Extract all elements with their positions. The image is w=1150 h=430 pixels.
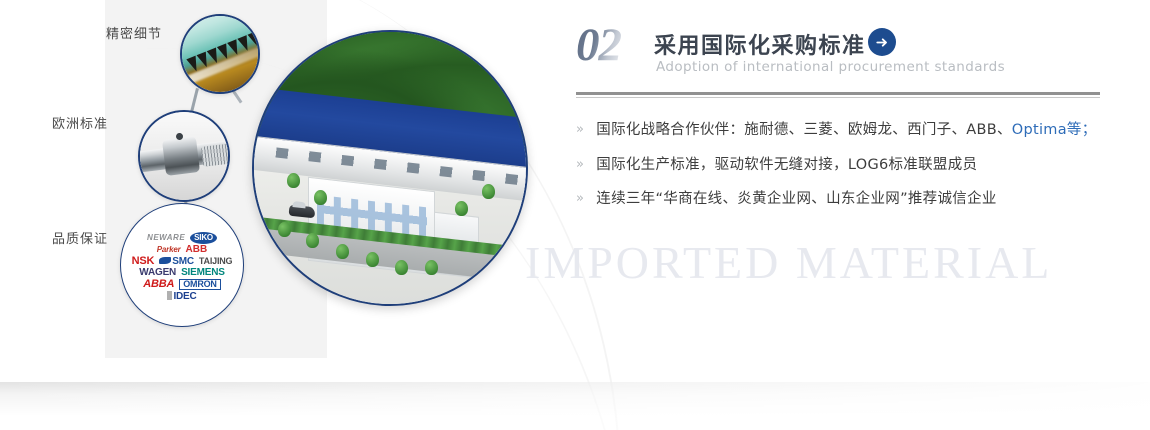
logo-smc-text: SMC (172, 256, 194, 267)
logo-idec: IDEC (167, 291, 196, 302)
tree-icon (306, 233, 319, 248)
watermark-text: IMPORTED MATERIAL (525, 236, 1052, 289)
screw-nut-icon (162, 136, 200, 176)
logo-row: NSK SMC TAIJING (132, 256, 233, 267)
bullet-text: 连续三年“华商在线、炎黄企业网、山东企业网”推荐诚信企业 (596, 190, 996, 210)
logo-nsk: NSK (132, 256, 155, 267)
bullet-marker-icon: » (576, 190, 584, 208)
bottom-shadow-band (0, 382, 1150, 430)
logo-row: ABBA OMRON (143, 279, 220, 290)
screw-thread-icon (201, 143, 230, 167)
logo-parker: Parker (157, 246, 181, 254)
logo-neware: NEWARE (147, 234, 185, 242)
logo-idec-text: IDEC (173, 291, 196, 302)
section-number: 02 (576, 22, 621, 69)
logo-abb: ABB (186, 245, 208, 255)
logo-row: Parker ABB (157, 245, 207, 255)
logo-row: NEWARE SIKO (147, 232, 217, 244)
header-divider (576, 92, 1100, 98)
logo-abba: ABBA (143, 279, 174, 290)
logo-siemens: SIEMENS (181, 268, 225, 278)
section-title-cn: 采用国际化采购标准 (654, 28, 866, 60)
divider-thick-line (576, 92, 1100, 95)
divider-thin-line (576, 97, 1100, 98)
bullet-marker-icon: » (576, 121, 584, 139)
logo-smc: SMC (159, 257, 194, 267)
ball-screw-bubble (138, 110, 230, 202)
factory-photo-bubble (252, 30, 528, 306)
label-quality-assurance: 品质保证 (52, 228, 108, 247)
list-item: » 国际化战略合作伙伴：施耐德、三菱、欧姆龙、西门子、ABB、Optima等； (576, 121, 1106, 141)
tree-icon (366, 252, 379, 267)
bullet-text-lead: 国际化战略合作伙伴：施耐德、三菱、欧姆龙、西门子、ABB、 (596, 122, 1012, 138)
arrow-right-icon[interactable] (868, 28, 896, 56)
brand-logos-bubble: NEWARE SIKO Parker ABB NSK SMC TAIJING W… (120, 203, 244, 327)
logo-omron: OMRON (179, 279, 221, 290)
logo-row: WAGEN SIEMENS (139, 268, 224, 278)
bullet-text-highlight: Optima等； (1012, 122, 1097, 138)
label-european-standard: 欧洲标准 (52, 113, 108, 132)
feature-bullet-list: » 国际化战略合作伙伴：施耐德、三菱、欧姆龙、西门子、ABB、Optima等； … (576, 121, 1106, 210)
section-header: 02 采用国际化采购标准 Adoption of international p… (576, 24, 1106, 90)
logo-taijing: TAIJING (199, 257, 232, 266)
bullet-text: 国际化生产标准，驱动软件无缝对接，LOG6标准联盟成员 (596, 156, 977, 176)
logo-siko: SIKO (190, 232, 217, 244)
gear-detail-bubble (180, 14, 260, 94)
tree-icon (336, 244, 349, 259)
imported-material-section: 精密细节 欧洲标准 品质保证 NEWARE SIKO (0, 0, 1150, 430)
tree-icon (455, 201, 468, 216)
label-precision-detail: 精密细节 (106, 23, 162, 42)
brand-logo-collage: NEWARE SIKO Parker ABB NSK SMC TAIJING W… (121, 204, 243, 326)
list-item: » 连续三年“华商在线、炎黄企业网、山东企业网”推荐诚信企业 (576, 190, 1106, 210)
bullet-marker-icon: » (576, 156, 584, 174)
section-content: 02 采用国际化采购标准 Adoption of international p… (576, 24, 1106, 226)
section-title-en: Adoption of international procurement st… (656, 59, 1005, 75)
logo-row: IDEC (167, 291, 196, 302)
bullet-text: 国际化战略合作伙伴：施耐德、三菱、欧姆龙、西门子、ABB、Optima等； (596, 121, 1096, 141)
tree-icon (314, 190, 327, 205)
tree-icon (287, 173, 300, 188)
logo-wagen: WAGEN (139, 268, 176, 278)
list-item: » 国际化生产标准，驱动软件无缝对接，LOG6标准联盟成员 (576, 156, 1106, 176)
